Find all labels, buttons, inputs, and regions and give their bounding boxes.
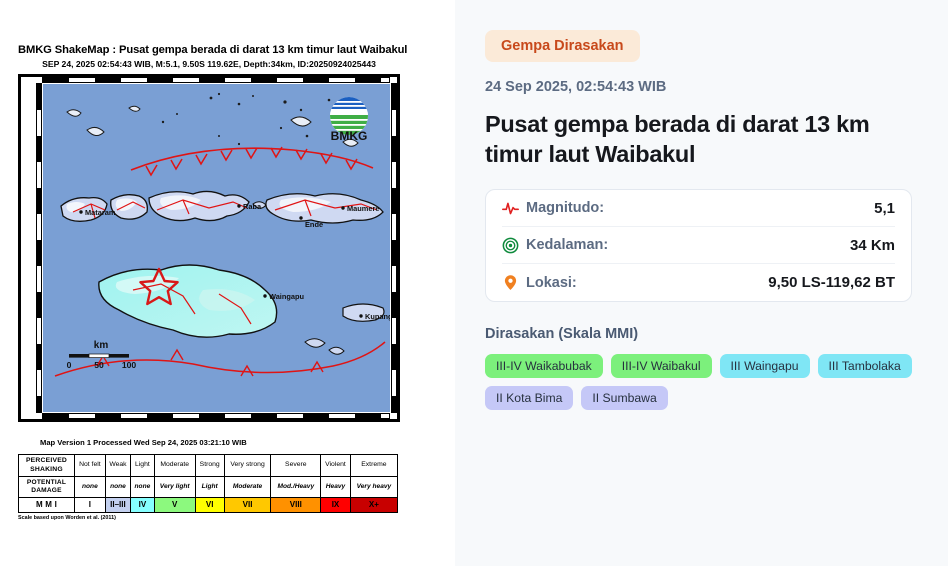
felt-tag[interactable]: III-IV Waikabubak xyxy=(485,354,603,378)
legend-cell-damage-7: Heavy xyxy=(321,477,351,498)
legend-cell-damage-0: none xyxy=(75,477,106,498)
status-badge: Gempa Dirasakan xyxy=(485,30,640,62)
shakemap-column: BMKG ShakeMap : Pusat gempa berada di da… xyxy=(0,0,455,566)
map-tick-band-bottom xyxy=(42,413,390,419)
legend-cell-mmi-3: V xyxy=(154,498,195,513)
map-tick-band-top xyxy=(42,77,390,83)
info-row-magnitude: Magnitudo: 5,1 xyxy=(502,190,895,227)
info-label-depth: Kedalaman: xyxy=(526,237,608,253)
svg-text:100: 100 xyxy=(122,360,137,370)
legend-cell-shaking-7: Violent xyxy=(321,455,351,477)
map-tick-band-left xyxy=(36,83,42,413)
legend-cell-damage-3: Very light xyxy=(154,477,195,498)
event-info-card: Magnitudo: 5,1 Kedalaman: 34 Km xyxy=(485,189,912,302)
felt-section-title: Dirasakan (Skala MMI) xyxy=(485,326,912,342)
svg-text:BMKG: BMKG xyxy=(331,129,368,143)
felt-tag[interactable]: II Kota Bima xyxy=(485,386,573,410)
event-timestamp: 24 Sep 2025, 02:54:43 WIB xyxy=(485,79,912,95)
felt-tag[interactable]: III Waingapu xyxy=(720,354,810,378)
mmi-legend-table: PERCEIVED SHAKING Not felt Weak Light Mo… xyxy=(18,454,398,513)
legend-cell-shaking-8: Extreme xyxy=(350,455,397,477)
legend-cell-shaking-3: Moderate xyxy=(154,455,195,477)
bmkg-logo: BMKG xyxy=(330,97,368,143)
shakemap-subtitle: SEP 24, 2025 02:54:43 WIB, M:5.1, 9.50S … xyxy=(18,59,400,69)
legend-cell-mmi-2: IV xyxy=(131,498,155,513)
info-value-magnitude: 5,1 xyxy=(874,200,895,217)
svg-text:km: km xyxy=(94,340,109,351)
legend-cell-shaking-1: Weak xyxy=(105,455,130,477)
felt-tag[interactable]: III Tambolaka xyxy=(818,354,912,378)
svg-text:Raba: Raba xyxy=(243,202,262,211)
info-label-location: Lokasi: xyxy=(526,275,577,291)
legend-cell-damage-8: Very heavy xyxy=(350,477,397,498)
legend-cell-damage-4: Light xyxy=(195,477,224,498)
legend-row-mmi: M M I I II–III IV V VI VII VIII IX X+ xyxy=(19,498,398,513)
info-label-magnitude: Magnitudo: xyxy=(526,200,604,216)
legend-header-mmi: M M I xyxy=(19,498,75,513)
legend-header-perceived-shaking: PERCEIVED SHAKING xyxy=(19,455,75,477)
map-tick-band-right xyxy=(391,83,397,413)
shakemap-figure: BMKG ShakeMap : Pusat gempa berada di da… xyxy=(18,44,400,521)
info-row-depth: Kedalaman: 34 Km xyxy=(502,227,895,264)
page-title: Pusat gempa berada di darat 13 km timur … xyxy=(485,109,912,169)
svg-text:Mataram: Mataram xyxy=(85,208,116,217)
legend-cell-shaking-0: Not felt xyxy=(75,455,106,477)
legend-cell-shaking-6: Severe xyxy=(271,455,321,477)
earthquake-detail-page: BMKG ShakeMap : Pusat gempa berada di da… xyxy=(0,0,948,566)
info-value-location: 9,50 LS-119,62 BT xyxy=(768,274,895,291)
legend-header-potential-damage: POTENTIAL DAMAGE xyxy=(19,477,75,498)
legend-note: Scale based upon Worden et al. (2011) xyxy=(18,515,400,521)
detail-panel: Gempa Dirasakan 24 Sep 2025, 02:54:43 WI… xyxy=(455,0,948,566)
map-pin-icon xyxy=(502,274,526,291)
felt-tag[interactable]: II Sumbawa xyxy=(581,386,667,410)
legend-cell-mmi-5: VII xyxy=(224,498,271,513)
svg-text:50: 50 xyxy=(94,360,104,370)
shakemap-map[interactable]: Mataram Raba Maumere Waingapu Ende Kupan… xyxy=(18,74,400,422)
map-caption: Map Version 1 Processed Wed Sep 24, 2025… xyxy=(40,438,400,447)
pulse-icon xyxy=(502,200,526,217)
legend-cell-mmi-7: IX xyxy=(321,498,351,513)
felt-tag[interactable]: III-IV Waibakul xyxy=(611,354,712,378)
legend-cell-shaking-2: Light xyxy=(131,455,155,477)
legend-cell-mmi-8: X+ xyxy=(350,498,397,513)
legend-row-perceived-shaking: PERCEIVED SHAKING Not felt Weak Light Mo… xyxy=(19,455,398,477)
legend-cell-mmi-1: II–III xyxy=(105,498,130,513)
svg-text:Waingapu: Waingapu xyxy=(269,292,305,301)
svg-text:Kupang: Kupang xyxy=(365,312,390,321)
legend-cell-damage-5: Moderate xyxy=(224,477,271,498)
map-canvas: Mataram Raba Maumere Waingapu Ende Kupan… xyxy=(43,84,390,412)
info-row-location: Lokasi: 9,50 LS-119,62 BT xyxy=(502,264,895,301)
info-value-depth: 34 Km xyxy=(850,237,895,254)
svg-text:0: 0 xyxy=(67,360,72,370)
legend-row-potential-damage: POTENTIAL DAMAGE none none none Very lig… xyxy=(19,477,398,498)
legend-cell-shaking-5: Very strong xyxy=(224,455,271,477)
target-icon xyxy=(502,237,526,254)
legend-cell-mmi-6: VIII xyxy=(271,498,321,513)
legend-cell-damage-6: Mod./Heavy xyxy=(271,477,321,498)
legend-cell-mmi-4: VI xyxy=(195,498,224,513)
legend-cell-shaking-4: Strong xyxy=(195,455,224,477)
svg-text:Maumere: Maumere xyxy=(347,204,379,213)
svg-text:Ende: Ende xyxy=(305,220,323,229)
legend-cell-damage-1: none xyxy=(105,477,130,498)
shakemap-title: BMKG ShakeMap : Pusat gempa berada di da… xyxy=(18,44,400,56)
felt-tag-list: III-IV Waikabubak III-IV Waibakul III Wa… xyxy=(485,354,912,410)
legend-cell-damage-2: none xyxy=(131,477,155,498)
legend-cell-mmi-0: I xyxy=(75,498,106,513)
